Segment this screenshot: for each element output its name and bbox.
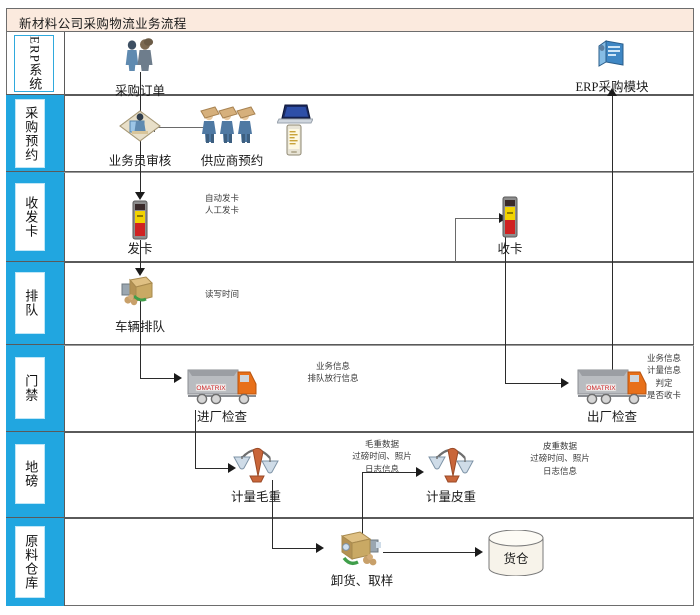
card-kiosk-icon-collect [500, 196, 520, 238]
mobile-phone-icon [286, 124, 302, 156]
connector-queue-to-entry-h [140, 378, 178, 379]
row-separator-6 [64, 518, 694, 519]
truck-box-icon [118, 274, 162, 308]
lane-label-gate: 门禁 [23, 374, 38, 402]
node-label-purchase-order: 采购订单 [115, 80, 165, 99]
node-label-issue-card: 发卡 [127, 238, 152, 257]
node-label-staff-review: 业务员审核 [109, 150, 172, 169]
diagram-title-bar: 新材料公司采购物流业务流程 [6, 8, 694, 32]
node-label-vehicle-queue: 车辆排队 [115, 316, 165, 335]
arrowhead-gross-to-unload [316, 543, 324, 553]
node-label-collect-card: 收卡 [497, 238, 522, 257]
lane-box-erp: ERP系统 [14, 35, 54, 92]
truck-icon-entry: OMATRIX [182, 362, 262, 408]
lane-label-card: 收发卡 [23, 196, 38, 238]
arrowhead-unload-to-storehouse [475, 547, 483, 557]
note-exit: 业务信息 计量信息判定 是否收卡 [646, 352, 682, 401]
connector-entry-to-gross-h [195, 468, 232, 469]
lane-box-scale: 地磅 [15, 444, 45, 504]
node-label-entry-check: 进厂检查 [197, 406, 247, 425]
two-people-icon [118, 38, 162, 72]
flowchart-page: 新材料公司采购物流业务流程 ERP系统 采购预约 收发卡 排队 门禁 [0, 0, 700, 615]
row-separator-3 [64, 262, 694, 263]
cylinder-database-icon: 货仓 [486, 530, 546, 576]
connector-queue-to-entry-v [140, 298, 141, 378]
lane-box-gate: 门禁 [15, 357, 45, 419]
node-label-erp-module: ERP采购模块 [576, 76, 649, 95]
lane-box-queue: 排队 [15, 272, 45, 334]
erp-screen-icon [595, 38, 629, 70]
connector-entry-to-gross-v [195, 410, 196, 468]
node-label-unload-sample: 卸货、取样 [331, 570, 394, 589]
scale-balance-icon-gross [228, 442, 284, 486]
row-separator-4 [64, 345, 694, 346]
note-card: 自动发卡 人工发卡 [205, 192, 239, 217]
lane-label-erp: ERP系统 [27, 36, 42, 91]
connector-stub-to-collectcard [455, 218, 503, 219]
node-label-storehouse: 货仓 [486, 534, 546, 580]
node-label-gross-weight: 计量毛重 [231, 486, 281, 505]
svg-text:OMATRIX: OMATRIX [196, 385, 226, 392]
note-gate: 业务信息 排队放行信息 [307, 360, 358, 385]
scale-balance-icon-tare [423, 442, 479, 486]
truck-unload-icon [336, 528, 388, 570]
node-label-exit-check: 出厂检查 [587, 406, 637, 425]
truck-icon-exit: OMATRIX [572, 362, 652, 408]
lane-scale: 地磅 [6, 432, 694, 518]
lane-box-warehouse: 原料仓库 [15, 526, 45, 598]
lane-box-card: 收发卡 [15, 183, 45, 251]
lane-label-warehouse: 原料仓库 [23, 534, 38, 590]
connector-unload-to-storehouse [383, 552, 477, 553]
connector-stub-collectcard-v [455, 218, 456, 262]
note-gross: 毛重数据 过磅时间、照片 日志信息 [352, 438, 412, 475]
connector-exit-to-erp [612, 95, 613, 380]
lane-label-scale: 地磅 [23, 460, 38, 488]
laptop-icon [277, 103, 313, 125]
connector-gross-to-unload-h [272, 548, 320, 549]
person-desk-icon [116, 107, 164, 147]
lane-label-appoint: 采购预约 [23, 106, 38, 162]
connector-exit-to-collect-h [505, 383, 565, 384]
node-label-supplier-booking: 供应商预约 [201, 150, 264, 169]
lane-queue: 排队 [6, 262, 694, 345]
three-workers-icon [195, 104, 269, 146]
note-queue: 读写时间 [205, 288, 239, 300]
node-label-tare-weight: 计量皮重 [426, 486, 476, 505]
page-title: 新材料公司采购物流业务流程 [19, 13, 187, 32]
arrowhead-queue-to-entry [174, 373, 182, 383]
svg-text:OMATRIX: OMATRIX [586, 385, 616, 392]
lane-card: 收发卡 [6, 172, 694, 262]
lane-label-queue: 排队 [23, 289, 38, 317]
row-separator-2 [64, 172, 694, 173]
note-tare: 皮重数据 过磅时间、照片 日志信息 [530, 440, 590, 477]
row-separator-5 [64, 432, 694, 433]
arrowhead-review-to-issuecard [135, 192, 145, 200]
arrowhead-exit-truck [561, 378, 569, 388]
card-kiosk-icon-issue [130, 200, 150, 240]
lane-box-appoint: 采购预约 [15, 99, 45, 168]
